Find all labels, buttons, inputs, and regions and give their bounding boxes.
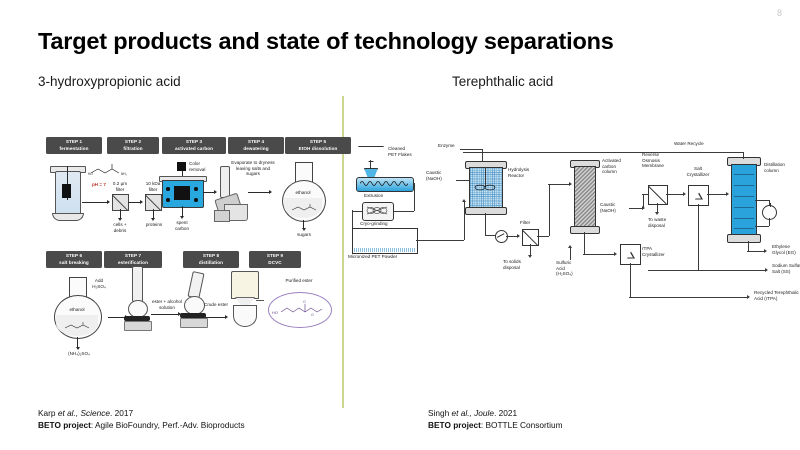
flow-line bbox=[82, 202, 108, 203]
left-process-diagram: STEP 1 fermentation STEP 2 filtration ST… bbox=[44, 132, 334, 382]
column-tray bbox=[734, 207, 754, 208]
step-chip-9: STEP 9 DCVC bbox=[249, 251, 301, 268]
rtpa-crystallizer-label: rTPA Crystallizer bbox=[642, 246, 676, 257]
project-value: : Agile BioFoundry, Perf.-Adv. Bioproduc… bbox=[91, 420, 245, 430]
extruder-out-line bbox=[393, 211, 414, 212]
flow-line bbox=[204, 317, 226, 318]
solids-disposal-label: To solids disposal bbox=[503, 259, 537, 270]
filter-out-line bbox=[548, 184, 570, 185]
salt-crystallizer bbox=[688, 185, 709, 206]
flow-arrow bbox=[528, 255, 532, 258]
dcvc-column bbox=[231, 271, 259, 299]
flow-arrow bbox=[655, 212, 659, 215]
right-citation: Singh et al., Joule. 2021 BETO project: … bbox=[428, 408, 562, 431]
condenser-line bbox=[769, 200, 770, 206]
ro-feed-line bbox=[643, 194, 644, 208]
condenser-line bbox=[755, 226, 769, 227]
project-label: BETO project bbox=[38, 420, 91, 430]
step-name: dewatering bbox=[230, 146, 282, 152]
step-name: distillation bbox=[185, 260, 237, 266]
left-panel-subtitle: 3-hydroxypropionic acid bbox=[38, 74, 181, 89]
ammonium-sulfate-label: (NH₄)₂SO₄ bbox=[64, 351, 94, 357]
distillation-bottom-flange bbox=[727, 234, 761, 243]
3hp-molecule-structure: HO NH₂ bbox=[88, 162, 130, 178]
svg-text:NH₂: NH₂ bbox=[121, 172, 128, 176]
caustic-1-label: Caustic (NaOH) bbox=[426, 170, 460, 181]
crystallizer-triangle-icon bbox=[627, 251, 635, 258]
project-value: : BOTTLE Consortium bbox=[481, 420, 563, 430]
cryo-out-line bbox=[352, 211, 363, 212]
carbon-out-line bbox=[583, 254, 615, 255]
spent-carbon-label: spent carbon bbox=[170, 220, 194, 231]
rtpa-product-label: Recycled Terephthalic Acid (rTPA) bbox=[754, 290, 800, 301]
right-citation-line1: Singh et al., Joule. 2021 bbox=[428, 408, 562, 420]
svg-text:HO: HO bbox=[88, 172, 93, 176]
carbon-particle bbox=[166, 198, 170, 202]
ph-label: pH = 7 bbox=[92, 182, 106, 188]
flow-arrow bbox=[214, 190, 217, 194]
slide-root: 8 Target products and state of technolog… bbox=[0, 0, 800, 450]
rotovap-stand bbox=[214, 210, 230, 222]
flow-arrow bbox=[269, 190, 272, 194]
micronized-powder-box bbox=[352, 228, 418, 254]
distillation-column-label: Distillation column bbox=[764, 162, 800, 173]
left-citation-line1: Karp et al., Science. 2017 bbox=[38, 408, 245, 420]
reactor-bottom-flange bbox=[465, 207, 507, 215]
proteins-label: proteins bbox=[142, 222, 166, 228]
step-name: EtOH dissolution bbox=[287, 146, 349, 152]
color-removal-label: Color removal bbox=[189, 161, 213, 172]
citation-year: . 2017 bbox=[110, 408, 133, 418]
filter-02um-drop-arrow bbox=[118, 218, 122, 221]
step-name: salt breaking bbox=[48, 260, 100, 266]
reactor-impeller-icon bbox=[474, 184, 496, 191]
dcvc-sidearm bbox=[256, 300, 264, 301]
step-name: DCVC bbox=[251, 260, 299, 266]
purified-ester-label: Purified ester bbox=[282, 278, 316, 284]
ro-out-line bbox=[666, 194, 684, 195]
ester-alcohol-label: ester + alcohol solution bbox=[150, 299, 184, 310]
flow-line bbox=[248, 192, 270, 193]
filter-out-line bbox=[549, 184, 550, 236]
left-citation-line2: BETO project: Agile BioFoundry, Perf.-Ad… bbox=[38, 420, 245, 432]
feed-pump bbox=[495, 230, 508, 243]
salt-cryst-down-line bbox=[698, 204, 699, 270]
right-citation-line2: BETO project: BOTTLE Consortium bbox=[428, 420, 562, 432]
flow-arrow bbox=[140, 200, 143, 204]
stir-plate-base bbox=[124, 321, 152, 331]
citation-year: . 2021 bbox=[494, 408, 517, 418]
carbon-column-bottom bbox=[570, 226, 600, 234]
step-name: fermentation bbox=[48, 146, 100, 152]
hydrolysis-reactor-label: Hydrolysis Reactor bbox=[508, 167, 542, 178]
step-chip-3: STEP 3 activated carbon bbox=[162, 137, 226, 154]
flow-arrow bbox=[569, 182, 572, 186]
column-tray bbox=[734, 185, 754, 186]
filter-out-line bbox=[537, 236, 549, 237]
step-chip-2: STEP 2 filtration bbox=[107, 137, 159, 154]
reactor-out-line bbox=[485, 213, 486, 235]
salt-cryst-out-line bbox=[707, 194, 727, 195]
right-process-diagram: Cleaned PET Flakes Extrusion Cryo-grindi… bbox=[348, 140, 796, 330]
rotovap-condenser bbox=[220, 166, 230, 198]
ethanol-label: ethanol bbox=[290, 190, 316, 196]
ethanol-flask: ethanol bbox=[276, 160, 332, 226]
rtpa-crystallizer bbox=[620, 244, 641, 265]
citation-authors: Karp bbox=[38, 408, 58, 418]
flow-arrow bbox=[764, 249, 767, 253]
distillation-head bbox=[187, 271, 204, 299]
purified-ester-structure: HO O O bbox=[272, 298, 326, 320]
eg-out-line bbox=[748, 241, 749, 251]
powder-feed-line bbox=[416, 240, 464, 241]
citation-journal: , Science bbox=[76, 408, 110, 418]
flow-arrow bbox=[765, 268, 768, 272]
step-chip-4: STEP 4 dewatering bbox=[228, 137, 284, 154]
step-name: filtration bbox=[109, 146, 157, 152]
filter-02um-label: 0.2 µm filter bbox=[108, 181, 132, 192]
ammonium-sulfate-arrow bbox=[76, 347, 80, 350]
step-name: esterification bbox=[106, 260, 160, 266]
step-chip-1: STEP 1 fermentation bbox=[46, 137, 102, 154]
flow-line bbox=[151, 314, 179, 315]
extrusion-label: Extrusion bbox=[364, 193, 408, 199]
flow-arrow bbox=[726, 192, 729, 196]
flow-arrow bbox=[683, 192, 686, 196]
page-number: 8 bbox=[777, 8, 782, 18]
carbon-column-label: Activated carbon column bbox=[602, 158, 636, 175]
flow-arrow bbox=[568, 245, 572, 248]
micronized-powder-label: Micronized PET Powder bbox=[348, 254, 424, 260]
sugars-arrow bbox=[302, 228, 306, 231]
waste-disposal-label: To waste disposal bbox=[648, 217, 682, 228]
product-molecule bbox=[290, 203, 318, 213]
feed-hopper bbox=[358, 146, 384, 162]
hopper-stem bbox=[370, 160, 371, 169]
caustic-2-label: Caustic (NaOH) bbox=[600, 202, 630, 213]
extruder-screw-icon bbox=[360, 179, 408, 188]
citation-authors: Singh bbox=[428, 408, 452, 418]
carbon-out-line bbox=[584, 232, 585, 254]
column-tray bbox=[734, 218, 754, 219]
evaporate-label: Evaporate to dryness leaving salts and s… bbox=[230, 160, 276, 177]
salt-crystallizer-label: Salt Crystallizer bbox=[681, 166, 715, 177]
stir-plate-base bbox=[180, 318, 208, 328]
extruder-out-line bbox=[414, 183, 415, 211]
powder-fill bbox=[354, 248, 416, 252]
sugars-label: sugars bbox=[292, 232, 316, 238]
ro-membrane bbox=[648, 185, 668, 205]
crude-ester-label: Crude ester bbox=[204, 302, 228, 308]
condenser-valve bbox=[762, 205, 777, 220]
filter-10kda bbox=[145, 194, 162, 211]
cryo-grinding-label: Cryo-grinding bbox=[360, 221, 406, 227]
cells-debris-label: cells + debris bbox=[108, 222, 132, 233]
step-chip-5: STEP 5 EtOH dissolution bbox=[285, 137, 351, 154]
rtpa-out-line bbox=[630, 263, 631, 297]
svg-text:O: O bbox=[303, 300, 306, 304]
carbon-bed bbox=[174, 186, 190, 200]
filter-10kda-drop-arrow bbox=[151, 218, 155, 221]
project-label: BETO project bbox=[428, 420, 481, 430]
sulfuric-acid-label: Sulfuric Acid (H₂SO₄) bbox=[556, 260, 586, 277]
rtpa-out-line bbox=[629, 297, 748, 298]
column-tray bbox=[734, 228, 754, 229]
caustic-2-line bbox=[629, 208, 643, 209]
ss-out-line bbox=[648, 270, 766, 271]
sodium-sulfate-label: Sodium Sulfate Salt (SS) bbox=[772, 263, 800, 274]
citation-journal: , Joule bbox=[470, 408, 494, 418]
ho-label: HO bbox=[272, 310, 278, 315]
cleaned-pet-flakes-label: Cleaned PET Flakes bbox=[388, 146, 428, 157]
step-name: activated carbon bbox=[164, 146, 224, 152]
flow-arrow bbox=[462, 199, 466, 202]
ro-feed-line bbox=[642, 194, 649, 195]
dcvc-receiver bbox=[233, 305, 257, 327]
eg-out-line bbox=[747, 251, 765, 252]
flow-arrow bbox=[614, 252, 617, 256]
product-molecule bbox=[63, 321, 91, 331]
flow-arrow bbox=[107, 200, 110, 204]
left-citation: Karp et al., Science. 2017 BETO project:… bbox=[38, 408, 245, 431]
filter-02um bbox=[112, 194, 129, 211]
right-panel-subtitle: Terephthalic acid bbox=[452, 74, 553, 89]
water-recycle-label: Water Recycle bbox=[674, 141, 734, 147]
filter-label: Filter bbox=[520, 220, 542, 226]
solids-filter bbox=[522, 229, 539, 246]
crystallizer-triangle-icon bbox=[695, 192, 703, 199]
condenser-line bbox=[755, 200, 769, 201]
add-sulfuric-acid-label: Add H₂SO₄ bbox=[88, 278, 110, 289]
carbon-particle bbox=[166, 187, 170, 191]
sulfuric-acid-line bbox=[570, 248, 571, 260]
carbon-particle bbox=[194, 198, 198, 202]
svg-text:O: O bbox=[311, 313, 314, 317]
fermenter-bottom-cap bbox=[52, 213, 84, 221]
spent-carbon-arrow bbox=[180, 216, 184, 219]
grinder-blades-icon bbox=[365, 204, 389, 217]
citation-etal: et al. bbox=[452, 408, 470, 418]
page-title: Target products and state of technology … bbox=[38, 28, 614, 55]
fermenter-impeller bbox=[62, 184, 71, 198]
reflux-condenser bbox=[132, 266, 143, 302]
carbon-particle bbox=[194, 187, 198, 191]
flow-arrow bbox=[225, 315, 228, 319]
flow-arrow bbox=[517, 234, 520, 238]
activated-carbon-column bbox=[574, 166, 596, 228]
enzyme-line bbox=[460, 149, 482, 150]
distillation-column bbox=[731, 164, 757, 236]
color-removal-swatch bbox=[177, 162, 186, 171]
ethanol-label: ethanol bbox=[64, 307, 90, 313]
column-tray bbox=[734, 174, 754, 175]
flow-arrow bbox=[747, 295, 750, 299]
citation-etal: et al. bbox=[58, 408, 76, 418]
step-chip-6: STEP 6 salt breaking bbox=[46, 251, 102, 268]
water-recycle-line bbox=[463, 152, 743, 153]
step-chip-8: STEP 8 distillation bbox=[183, 251, 239, 268]
ethylene-glycol-label: Ethylene Glycol (EG) bbox=[772, 244, 800, 255]
water-recycle-line bbox=[743, 152, 744, 159]
color-removal-line bbox=[182, 171, 183, 176]
ro-membrane-label: Reverse Osmosis Membrane bbox=[642, 152, 678, 169]
column-tray bbox=[734, 196, 754, 197]
